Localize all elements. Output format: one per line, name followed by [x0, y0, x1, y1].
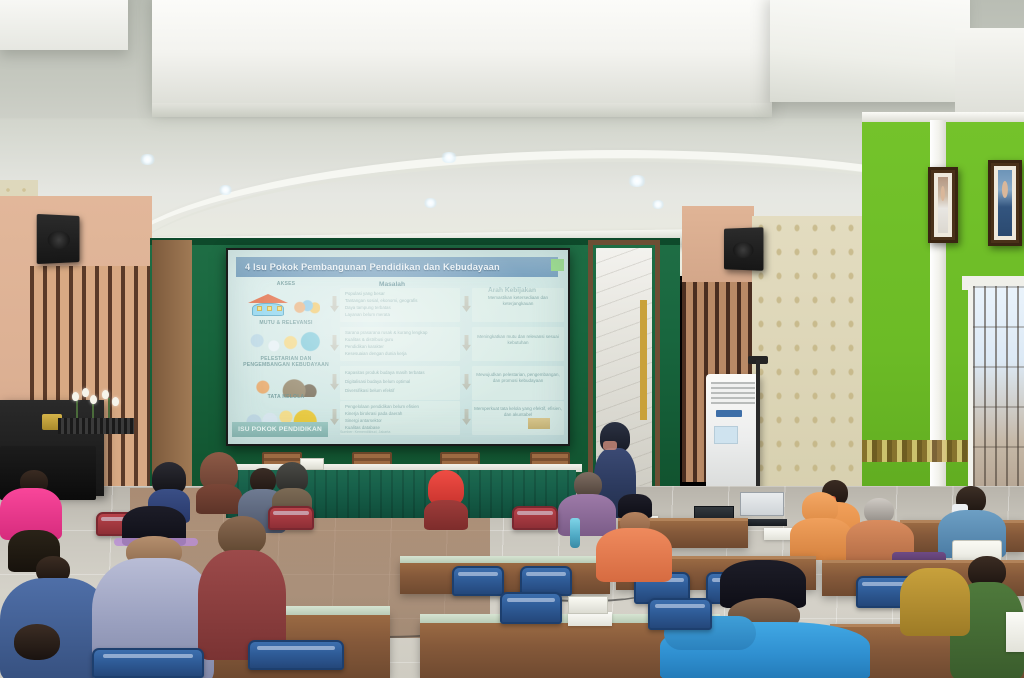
- bullet-text: Sarana prasarana rusak & kurang lengkap: [345, 330, 428, 335]
- desk-surface: [400, 556, 610, 563]
- participant-pink-jacket: [0, 470, 62, 566]
- portrait-image: [998, 170, 1012, 236]
- ac-brand-logo: [716, 410, 742, 417]
- arrow-down-icon: [330, 335, 339, 351]
- participant-brown-hijab: [196, 452, 242, 514]
- presenter-face-mask: [603, 441, 617, 450]
- door-frame-left: [152, 240, 192, 488]
- policy-text: Memastikan ketersediaan dan keterjangkau…: [472, 295, 564, 306]
- ceiling-light: [627, 175, 647, 187]
- slide-title: 4 Isu Pokok Pembangunan Pendidikan dan K…: [236, 257, 558, 277]
- drink-bottle: [570, 518, 580, 548]
- laptop-lid: [740, 492, 784, 516]
- desk-mid-left: [400, 560, 610, 594]
- laboratory-icon: [242, 329, 330, 355]
- slide-cell-policy: Memperkuat tata kelola yang efektif, efi…: [472, 401, 564, 435]
- chair-back-front[interactable]: [248, 640, 344, 670]
- speaker-cone: [733, 242, 754, 258]
- ceiling-beam-right-secondary: [955, 28, 1024, 112]
- ceiling-light: [651, 200, 665, 209]
- students-glyph: [294, 298, 320, 315]
- ceiling-light: [218, 185, 233, 195]
- flower-bloom: [90, 395, 97, 404]
- portrait-head: [1002, 181, 1008, 198]
- portrait-image: [938, 177, 948, 233]
- bullet-text: Layanan belum merata: [345, 312, 390, 317]
- official-portrait-left: [928, 167, 958, 243]
- arrow-down-icon: [330, 409, 339, 425]
- flower-bloom: [112, 397, 119, 406]
- slide-footer: Sumber: Kemendikbud, Jakarta: [340, 430, 390, 434]
- participant-red-hijab: [424, 470, 468, 528]
- ac-control-panel: [714, 426, 738, 444]
- school-house-icon: [242, 290, 330, 316]
- participant-yellow-batik-right: [900, 556, 970, 634]
- ceiling-beam-left: [0, 0, 128, 50]
- torso: [424, 500, 468, 530]
- flower-arrangement: [66, 386, 124, 422]
- house-roof: [248, 294, 288, 303]
- wall-wallpaper-right: [752, 216, 864, 516]
- ac-vent-icon: [711, 382, 755, 404]
- papers-on-desk: [1006, 612, 1024, 652]
- bullet-text: Pengelolaan pendidikan belum efisien: [345, 404, 419, 409]
- flower-bloom: [102, 390, 109, 399]
- participant-maroon-front: [198, 516, 286, 656]
- policy-text: Meningkatkan mutu dan relevansi sesuai k…: [472, 334, 564, 345]
- slide-row-label: TATA KELOLA: [238, 394, 334, 400]
- torso: [900, 568, 970, 636]
- ceiling-beam-main: [152, 0, 772, 108]
- slide-cell-problem: Sarana prasarana rusak & kurang lengkap …: [340, 327, 460, 361]
- arrow-down-icon: [330, 374, 339, 390]
- flower-bloom: [72, 392, 79, 401]
- tissue-box-front: [568, 596, 608, 614]
- slide-cell-policy: Mewujudkan pelestarian, pengembangan, da…: [472, 366, 564, 400]
- speaker-cone: [48, 231, 70, 250]
- wall-speaker-right: [724, 227, 764, 271]
- bullet-text: Daya tampung terbatas: [345, 305, 391, 310]
- projector-screen: 4 Isu Pokok Pembangunan Pendidikan dan K…: [228, 250, 568, 444]
- slide-row-label: AKSES: [238, 281, 334, 287]
- arrow-down-icon: [330, 296, 339, 312]
- papers-on-desk: [568, 612, 612, 626]
- house-glyph: [248, 294, 288, 316]
- bullet-text: Tantangan sosial, ekonomi, geografis: [345, 298, 418, 303]
- slide-row-label: MUTU & RELEVANSI: [238, 320, 334, 326]
- slide-logo-badge: [551, 259, 564, 271]
- slide-cell-problem: Populasi yang besar Tantangan sosial, ek…: [340, 288, 460, 322]
- chair-back-red[interactable]: [512, 506, 558, 530]
- ceiling-light: [440, 152, 458, 163]
- policy-text: Memperkuat tata kelola yang efektif, efi…: [472, 406, 564, 417]
- official-portrait-right: [988, 160, 1022, 246]
- arrow-down-icon: [462, 335, 471, 351]
- chair-back-front[interactable]: [500, 592, 562, 624]
- slide-column-header-problem: Masalah: [332, 281, 452, 288]
- slide-cell-policy: Meningkatkan mutu dan relevansi sesuai k…: [472, 327, 564, 361]
- participant-orange-hijab-right: [790, 492, 852, 558]
- seminar-room-photo: 4 Isu Pokok Pembangunan Pendidikan dan K…: [0, 0, 1024, 678]
- flower-planter: [58, 418, 134, 434]
- bullet-text: Kapasitas produk budaya masih terbatas: [345, 370, 425, 375]
- arrow-down-icon: [462, 374, 471, 390]
- bullet-text: Pendidikan karakter: [345, 344, 384, 349]
- flower-bloom: [82, 388, 89, 397]
- participant-dark-front-left: [0, 624, 84, 678]
- bullet-text: Diversifikasi belum efektif: [345, 388, 395, 393]
- bullet-text: Kesesuaian dengan dunia kerja: [345, 351, 407, 356]
- bullet-text: Digitalisasi budaya belum optimal: [345, 379, 410, 384]
- slide-gold-accent-box: [528, 418, 550, 429]
- torso: [790, 518, 852, 560]
- ceiling-beam-right: [770, 0, 970, 102]
- portrait-head: [941, 186, 945, 201]
- chair-back-front[interactable]: [92, 648, 204, 678]
- mic-stand-pole: [756, 360, 760, 494]
- slide-cell-policy: Memastikan ketersediaan dan keterjangkau…: [472, 288, 564, 322]
- ceiling-light: [139, 154, 156, 165]
- slide-row-label: PELESTARIAN DAN PENGEMBANGAN KEBUDAYAAN: [238, 357, 334, 368]
- bullet-text: Kualitas & distribusi guru: [345, 337, 393, 342]
- bullet-text: Populasi yang besar: [345, 291, 385, 296]
- chair-back-front[interactable]: [648, 598, 712, 630]
- house-window: [277, 306, 282, 311]
- ceiling-light: [423, 198, 438, 208]
- gold-accent-strip: [640, 300, 647, 420]
- chair-back[interactable]: [452, 566, 504, 596]
- arrow-down-icon: [462, 409, 471, 425]
- bullet-text: Kinerja birokrasi pada daerah: [345, 411, 402, 416]
- house-window: [257, 306, 262, 311]
- slide-banner: ISU POKOK PENDIDIKAN: [232, 422, 328, 437]
- lab-equipment-glyph: [248, 331, 324, 355]
- bullet-text: Sinergi antarsektor: [345, 418, 382, 423]
- arrow-down-icon: [462, 296, 471, 312]
- standing-air-conditioner: [706, 374, 760, 494]
- house-window: [267, 306, 272, 311]
- slide-cell-problem: Kapasitas produk budaya masih terbatas D…: [340, 366, 460, 400]
- wall-speaker-left: [37, 214, 80, 264]
- head: [14, 624, 60, 660]
- policy-text: Mewujudkan pelestarian, pengembangan, da…: [472, 372, 564, 383]
